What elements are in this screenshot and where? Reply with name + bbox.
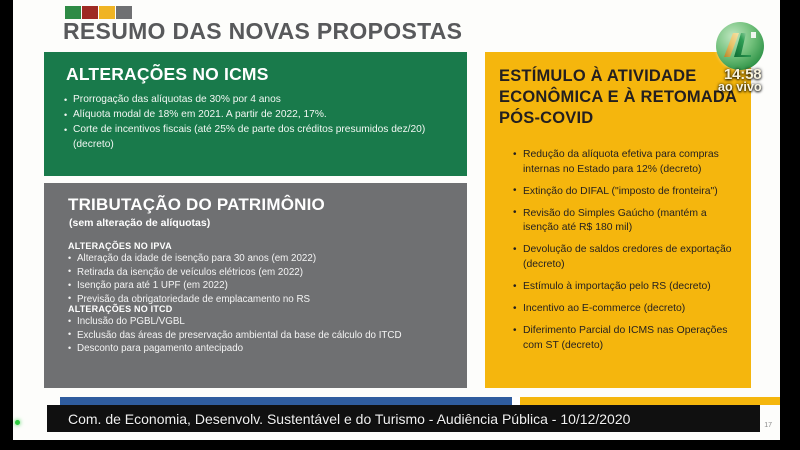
list-item: Isenção para até 1 UPF (em 2022) — [68, 279, 457, 293]
list-item: Devolução de saldos credores de exportaç… — [513, 243, 743, 272]
slide-page-number: 17 — [764, 422, 772, 429]
panel-alteracoes-icms: ALTERAÇÕES NO ICMS Prorrogação das alíqu… — [44, 52, 467, 176]
presentation-slide: RESUMO DAS NOVAS PROPOSTAS ALTERAÇÕES NO… — [13, 0, 780, 440]
caption-accent-strip — [60, 397, 780, 405]
panel-icms-heading: ALTERAÇÕES NO ICMS — [66, 64, 269, 85]
panel-estimulo-bullets: Redução da alíquota efetiva para compras… — [513, 148, 743, 361]
list-item: Diferimento Parcial do ICMS nas Operaçõe… — [513, 324, 743, 353]
list-item: Estímulo à importação pelo RS (decreto) — [513, 280, 743, 295]
panel-tributacao-patrimonio: TRIBUTAÇÃO DO PATRIMÔNIO (sem alteração … — [44, 183, 467, 388]
panel-estimulo-atividade-economica: ESTÍMULO À ATIVIDADE ECONÔMICA E À RETOM… — [485, 52, 751, 388]
list-item: Retirada da isenção de veículos elétrico… — [68, 266, 457, 280]
list-item: Exclusão das áreas de preservação ambien… — [68, 329, 457, 343]
list-item: Incentivo ao E-commerce (decreto) — [513, 302, 743, 317]
caption-strip-gap — [512, 397, 520, 405]
slide-title: RESUMO DAS NOVAS PROPOSTAS — [63, 18, 462, 45]
live-indicator-label: ao vivo — [718, 80, 762, 94]
caption-bar: Com. de Economia, Desenvolv. Sustentável… — [47, 405, 760, 432]
list-item: Alíquota modal de 18% em 2021. A partir … — [64, 108, 455, 122]
group-alteracoes-itcd: ALTERAÇÕES NO ITCD Inclusão do PGBL/VGBL… — [68, 304, 457, 356]
broadcast-video-frame: RESUMO DAS NOVAS PROPOSTAS ALTERAÇÕES NO… — [0, 0, 800, 450]
caption-strip-blue — [60, 397, 512, 405]
list-item: Alteração da idade de isenção para 30 an… — [68, 252, 457, 266]
group-ipva-title: ALTERAÇÕES NO IPVA — [68, 241, 457, 251]
panel-estimulo-heading: ESTÍMULO À ATIVIDADE ECONÔMICA E À RETOM… — [499, 66, 743, 129]
list-item: Revisão do Simples Gaúcho (mantém a isen… — [513, 207, 743, 236]
panel-patrimonio-subheading: (sem alteração de alíquotas) — [69, 217, 210, 229]
caption-strip-gold — [520, 397, 780, 405]
letterbox-bottom — [0, 440, 800, 450]
list-item: Extinção do DIFAL ("imposto de fronteira… — [513, 185, 743, 200]
panel-icms-bullets: Prorrogação das alíquotas de 30% por 4 a… — [64, 93, 455, 153]
letterbox-left — [0, 0, 13, 450]
group-itcd-title: ALTERAÇÕES NO ITCD — [68, 304, 457, 314]
al-tv-logo-icon — [716, 22, 764, 70]
group-itcd-bullets: Inclusão do PGBL/VGBL Exclusão das áreas… — [68, 315, 457, 356]
panel-patrimonio-heading: TRIBUTAÇÃO DO PATRIMÔNIO — [68, 195, 325, 215]
letterbox-right — [780, 0, 800, 450]
list-item: Desconto para pagamento antecipado — [68, 342, 457, 356]
list-item: Inclusão do PGBL/VGBL — [68, 315, 457, 329]
list-item: Corte de incentivos fiscais (até 25% de … — [64, 123, 455, 151]
list-item: Redução da alíquota efetiva para compras… — [513, 148, 743, 177]
group-ipva-bullets: Alteração da idade de isenção para 30 an… — [68, 252, 457, 306]
group-alteracoes-ipva: ALTERAÇÕES NO IPVA Alteração da idade de… — [68, 241, 457, 306]
al-monogram-icon — [720, 29, 760, 63]
list-item: Prorrogação das alíquotas de 30% por 4 a… — [64, 93, 455, 107]
recording-indicator-dot — [15, 420, 20, 425]
caption-text: Com. de Economia, Desenvolv. Sustentável… — [68, 411, 630, 427]
broadcast-logo-block: 14:58 ao vivo — [710, 22, 772, 94]
